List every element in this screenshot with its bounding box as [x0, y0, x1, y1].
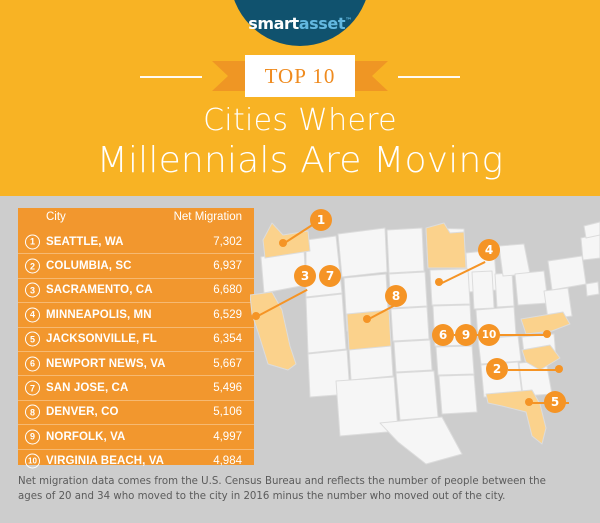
table-row: 6NEWPORT NEWS, VA5,667 [18, 352, 254, 376]
rank-badge: 10 [25, 454, 40, 469]
map-dot-1 [279, 239, 287, 247]
rank-badge: 3 [25, 283, 40, 298]
rank-badge: 8 [25, 405, 40, 420]
logo-text-smart: smart [248, 14, 299, 33]
map-marker-4[interactable]: 4 [478, 239, 500, 261]
table-row: 10VIRGINIA BEACH, VA4,984 [18, 450, 254, 473]
row-city-name: MINNEAPOLIS, MN [46, 309, 152, 321]
state-ca [250, 292, 296, 370]
column-header-value: Net Migration [174, 211, 242, 223]
table-header-row: City Net Migration [18, 208, 254, 230]
row-net-migration: 5,106 [213, 406, 242, 418]
map-dot-5 [525, 398, 533, 406]
table-body: 1SEATTLE, WA7,3022COLUMBIA, SC6,9373SACR… [18, 230, 254, 473]
row-net-migration: 4,997 [213, 431, 242, 443]
map-dot-4 [435, 278, 443, 286]
map-marker-5[interactable]: 5 [544, 391, 566, 413]
logo-text-asset: asset [299, 14, 345, 33]
table-row: 5JACKSONVILLE, FL6,354 [18, 328, 254, 352]
ribbon-rule-left [140, 76, 202, 78]
row-city-name: VIRGINIA BEACH, VA [46, 455, 164, 467]
smartasset-logo: smartasset™ [230, 0, 370, 46]
row-city-name: DENVER, CO [46, 406, 119, 418]
row-net-migration: 5,496 [213, 382, 242, 394]
rank-badge: 7 [25, 381, 40, 396]
map-dot-3 [252, 312, 260, 320]
row-city-name: SACRAMENTO, CA [46, 284, 153, 296]
table-row: 2COLUMBIA, SC6,937 [18, 254, 254, 278]
ranking-table: City Net Migration 1SEATTLE, WA7,3022COL… [18, 208, 254, 465]
logo-trademark-icon: ™ [345, 17, 352, 25]
column-header-city: City [46, 211, 66, 223]
infographic-root: smartasset™ TOP 10 Cities Where Millenni… [0, 0, 600, 523]
row-city-name: NEWPORT NEWS, VA [46, 358, 166, 370]
rank-badge: 9 [25, 429, 40, 444]
row-city-name: SEATTLE, WA [46, 236, 124, 248]
row-net-migration: 6,680 [213, 284, 242, 296]
rank-badge: 1 [25, 234, 40, 249]
table-row: 7SAN JOSE, CA5,496 [18, 376, 254, 400]
row-net-migration: 5,667 [213, 358, 242, 370]
row-city-name: SAN JOSE, CA [46, 382, 128, 394]
ribbon-rule-right [398, 76, 460, 78]
row-net-migration: 6,354 [213, 333, 242, 345]
row-city-name: NORFOLK, VA [46, 431, 125, 443]
map-marker-3[interactable]: 3 [294, 265, 316, 287]
table-row: 9NORFOLK, VA4,997 [18, 425, 254, 449]
page-title-line1: Cities Where [0, 103, 600, 138]
state-fl [486, 390, 546, 444]
row-net-migration: 6,529 [213, 309, 242, 321]
table-row: 4MINNEAPOLIS, MN6,529 [18, 303, 254, 327]
map-marker-7[interactable]: 7 [319, 265, 341, 287]
rank-badge: 2 [25, 259, 40, 274]
table-row: 3SACRAMENTO, CA6,680 [18, 279, 254, 303]
logo-wordmark: smartasset™ [230, 14, 370, 33]
rank-badge: 5 [25, 332, 40, 347]
footnote: Net migration data comes from the U.S. C… [18, 474, 558, 504]
rank-badge: 4 [25, 307, 40, 322]
table-row: 8DENVER, CO5,106 [18, 401, 254, 425]
row-net-migration: 4,984 [213, 455, 242, 467]
ribbon-label-box: TOP 10 [245, 55, 355, 97]
row-net-migration: 6,937 [213, 260, 242, 272]
map-dot-2 [555, 365, 563, 373]
map-marker-1[interactable]: 1 [310, 209, 332, 231]
ribbon-label: TOP 10 [265, 64, 336, 89]
row-city-name: COLUMBIA, SC [46, 260, 132, 272]
map-dot-6-9-10 [543, 330, 551, 338]
header-banner: smartasset™ TOP 10 Cities Where Millenni… [0, 0, 600, 196]
page-title-line2: Millennials Are Moving [0, 140, 600, 181]
map-dot-8 [363, 315, 371, 323]
map-marker-10[interactable]: 10 [478, 324, 500, 346]
map-marker-8[interactable]: 8 [385, 285, 407, 307]
row-city-name: JACKSONVILLE, FL [46, 333, 157, 345]
leader-line-2 [508, 369, 560, 371]
row-net-migration: 7,302 [213, 236, 242, 248]
top-ribbon: TOP 10 [0, 55, 600, 95]
us-map: 1 3 7 4 8 6 9 10 2 5 [250, 198, 600, 466]
map-marker-2[interactable]: 2 [486, 358, 508, 380]
map-marker-6[interactable]: 6 [432, 324, 454, 346]
rank-badge: 6 [25, 356, 40, 371]
map-marker-9[interactable]: 9 [455, 324, 477, 346]
table-row: 1SEATTLE, WA7,302 [18, 230, 254, 254]
